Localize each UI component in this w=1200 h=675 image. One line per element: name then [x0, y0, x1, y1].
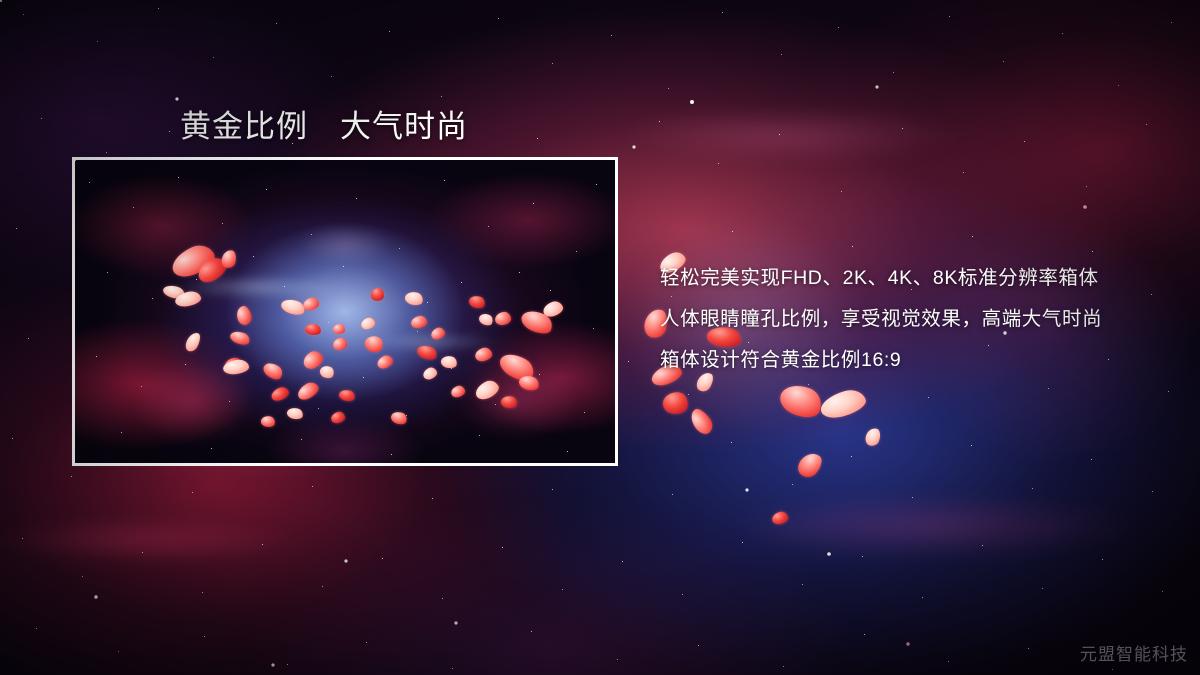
rose-petal [235, 305, 253, 327]
body-line-3: 箱体设计符合黄金比例16:9 [660, 340, 1140, 381]
rose-petal [370, 287, 385, 302]
rose-petal [362, 333, 385, 355]
rose-petal [404, 290, 425, 307]
rose-petal [474, 346, 494, 363]
rose-petal [477, 312, 494, 328]
rose-petal [318, 364, 335, 380]
rose-petal [687, 406, 717, 438]
rose-petal [304, 323, 321, 336]
rose-petal [415, 343, 438, 362]
rose-petal [430, 326, 447, 341]
rose-petal [338, 388, 356, 403]
rose-petal [261, 360, 285, 383]
rose-petal [389, 410, 408, 427]
rose-petal [421, 366, 438, 381]
rose-petal [330, 410, 346, 424]
rose-petal [864, 426, 883, 447]
rose-petal [183, 330, 203, 353]
rose-petal [450, 384, 466, 398]
bright-stars [0, 0, 2, 2]
rose-petal [794, 449, 826, 482]
rose-petal [279, 297, 306, 318]
rose-petal [260, 415, 276, 428]
rose-petal [295, 379, 321, 402]
rose-petal [473, 378, 502, 403]
watermark: 元盟智能科技 [1080, 640, 1188, 665]
body-line-2: 人体眼睛瞳孔比例，享受视觉效果，高端大气时尚 [660, 299, 1140, 340]
led-display-preview-frame [72, 157, 618, 466]
rose-petal [494, 311, 512, 326]
rose-petal [333, 324, 345, 334]
page-title: 黄金比例 大气时尚 [180, 101, 468, 146]
rose-petal [410, 315, 428, 330]
rose-petal [818, 386, 869, 422]
rose-petal [776, 379, 826, 423]
rose-petal [286, 406, 304, 420]
rose-petal [229, 329, 252, 347]
rose-petal [440, 354, 458, 369]
rose-petal [220, 249, 237, 270]
rose-petal [500, 395, 518, 410]
rose-petal [360, 316, 377, 331]
preview-petals [75, 160, 615, 463]
body-line-1: 轻松完美实现FHD、2K、4K、8K标准分辨率箱体 [660, 258, 1140, 299]
presentation-slide: 黄金比例 大气时尚 轻松完美实现FHD、2K、4K、8K标准分辨率箱体 人体眼睛… [0, 0, 1200, 675]
rose-petal [771, 510, 789, 525]
rose-petal [662, 391, 689, 415]
rose-petal [269, 385, 290, 403]
rose-petal [468, 294, 487, 310]
rose-petal [332, 337, 348, 352]
body-copy: 轻松完美实现FHD、2K、4K、8K标准分辨率箱体 人体眼睛瞳孔比例，享受视觉效… [660, 258, 1140, 381]
rose-petal [375, 353, 394, 370]
